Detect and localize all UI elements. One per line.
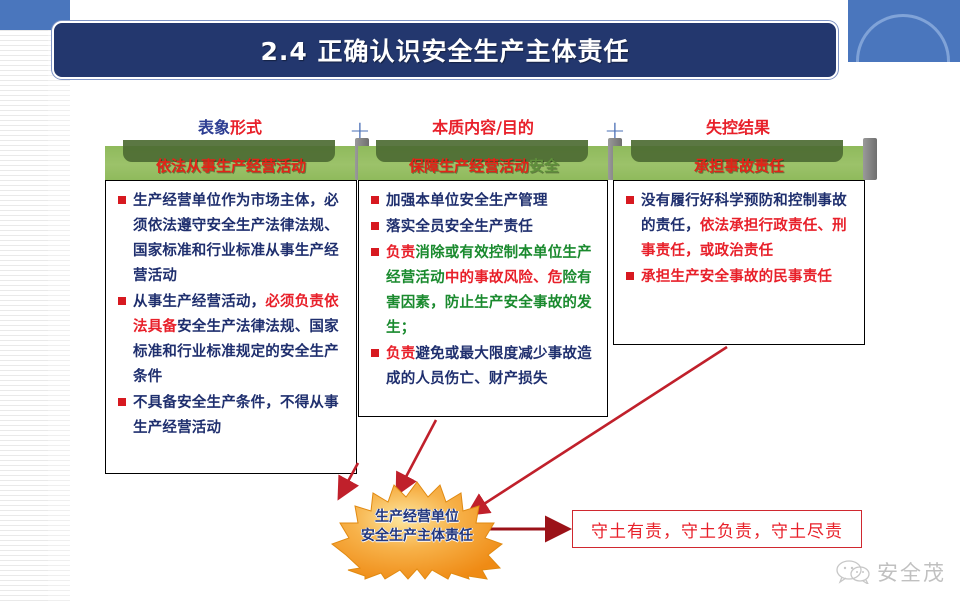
bullet-item: 从事生产经营活动，必须负责依法具备安全生产法律法规、国家标准和行业标准规定的安全…	[112, 290, 350, 390]
text-run-blue: 加强本单位安全生产管理	[386, 193, 548, 209]
conclusion-text: 守土有责，守土负责，守土尽责	[591, 517, 843, 542]
text-run-blue: 落实全员安全生产责任	[386, 219, 533, 235]
banner-label-1-main: 依法从事生产经营活动	[156, 157, 306, 175]
bullet-item: 加强本单位安全生产管理	[365, 189, 601, 214]
bullet-text: 负责消除或有效控制本单位生产经营活动中的事故风险、危险有害因素，防止生产安全事故…	[386, 241, 601, 341]
wechat-bubble-icon	[836, 560, 870, 584]
bullet-item: 承担生产安全事故的民事责任	[620, 265, 858, 290]
bullet-item: 不具备安全生产条件，不得从事生产经营活动	[112, 391, 350, 441]
bullet-text: 落实全员安全生产责任	[386, 215, 533, 240]
starburst-line-2: 安全生产主体责任	[322, 527, 512, 546]
bullet-square-icon	[118, 196, 126, 204]
column-caption-3: 失控结果	[613, 114, 863, 138]
banner-label-2: 保障生产经营活动安全	[358, 155, 610, 176]
conclusion-box: 守土有责，守土负责，守土尽责	[572, 510, 862, 548]
text-run-red: 中的事故风险、危	[445, 270, 563, 286]
bullet-item: 负责消除或有效控制本单位生产经营活动中的事故风险、危险有害因素，防止生产安全事故…	[365, 241, 601, 341]
bullet-item: 落实全员安全生产责任	[365, 215, 601, 240]
bullet-square-icon	[626, 272, 634, 280]
starburst-label: 生产经营单位 安全生产主体责任	[322, 508, 512, 546]
banner-label-3-main: 承担事故责任	[694, 157, 784, 175]
text-run-blue: 避免或最大限度减少事故造成的人员伤亡、财产损失	[386, 346, 592, 387]
banner-label-1: 依法从事生产经营活动	[105, 155, 357, 176]
decor-top-right-block	[848, 0, 960, 62]
decor-arc	[856, 14, 950, 62]
bullet-item: 没有履行好科学预防和控制事故的责任，依法承担行政责任、刑事责任，或政治责任	[620, 189, 858, 264]
caption-1-part-1: 表象	[198, 118, 230, 137]
bullet-text: 从事生产经营活动，必须负责依法具备安全生产法律法规、国家标准和行业标准规定的安全…	[133, 290, 350, 390]
banner-label-3: 承担事故责任	[613, 155, 865, 176]
bullet-square-icon	[118, 398, 126, 406]
bullet-item: 负责避免或最大限度减少事故造成的人员伤亡、财产损失	[365, 342, 601, 392]
column-caption-1: 表象形式	[105, 114, 355, 138]
text-run-red: 负责	[386, 245, 415, 261]
content-box-2: 加强本单位安全生产管理落实全员安全生产责任负责消除或有效控制本单位生产经营活动中…	[358, 180, 608, 417]
bullet-square-icon	[371, 196, 379, 204]
caption-3-part-2: 失控结果	[706, 118, 770, 137]
text-run-blue: 从事生产经营活动，	[133, 294, 265, 310]
column-banner-1: 依法从事生产经营活动	[105, 146, 357, 180]
banner-tab-3	[863, 138, 877, 180]
content-box-3: 没有履行好科学预防和控制事故的责任，依法承担行政责任、刑事责任，或政治责任承担生…	[613, 180, 865, 345]
content-box-1: 生产经营单位作为市场主体，必须依法遵守安全生产法律法规、国家标准和行业标准从事生…	[105, 180, 357, 474]
bullet-square-icon	[371, 349, 379, 357]
bullet-text: 加强本单位安全生产管理	[386, 189, 548, 214]
watermark: 安全茂	[836, 557, 946, 587]
slide-title-bar: 2.4 正确认识安全生产主体责任	[52, 21, 838, 79]
bullet-text: 不具备安全生产条件，不得从事生产经营活动	[133, 391, 350, 441]
bullet-item: 生产经营单位作为市场主体，必须依法遵守安全生产法律法规、国家标准和行业标准从事生…	[112, 189, 350, 289]
page-title: 2.4 正确认识安全生产主体责任	[261, 32, 630, 68]
decor-left-stripes-secondary	[48, 30, 70, 601]
slide-canvas: 2.4 正确认识安全生产主体责任 表象形式 本质内容/目的 失控结果 + + 依…	[0, 0, 960, 601]
decor-left-stripes	[0, 30, 48, 601]
text-run-blue: 生产经营单位作为市场主体，必须依法遵守安全生产法律法规、国家标准和行业标准从事生…	[133, 193, 339, 284]
bullet-text: 负责避免或最大限度减少事故造成的人员伤亡、财产损失	[386, 342, 601, 392]
text-run-red: 承担生产安全事故的民事责任	[641, 269, 832, 285]
caption-2-part-2: 本质内容/目的	[432, 118, 534, 137]
text-run-blue: 不具备安全生产条件，不得从事生产经营活动	[133, 395, 339, 436]
text-run-red: 负责	[386, 346, 415, 362]
watermark-text: 安全茂	[877, 557, 946, 587]
banner-label-2-main: 保障生产经营活动	[409, 157, 529, 175]
bullet-text: 生产经营单位作为市场主体，必须依法遵守安全生产法律法规、国家标准和行业标准从事生…	[133, 189, 350, 289]
starburst-shape: 生产经营单位 安全生产主体责任	[322, 480, 512, 580]
bullet-text: 没有履行好科学预防和控制事故的责任，依法承担行政责任、刑事责任，或政治责任	[641, 189, 858, 264]
caption-1-part-2: 形式	[230, 118, 262, 137]
bullet-square-icon	[371, 222, 379, 230]
bullet-square-icon	[626, 196, 634, 204]
bullet-square-icon	[371, 248, 379, 256]
bullet-square-icon	[118, 297, 126, 305]
column-banner-3: 承担事故责任	[613, 146, 865, 180]
banner-label-2-tail: 安全	[529, 157, 559, 175]
column-caption-2: 本质内容/目的	[358, 114, 608, 138]
bullet-text: 承担生产安全事故的民事责任	[641, 265, 832, 290]
starburst-line-1: 生产经营单位	[322, 508, 512, 527]
column-banner-2: 保障生产经营活动安全	[358, 146, 610, 180]
